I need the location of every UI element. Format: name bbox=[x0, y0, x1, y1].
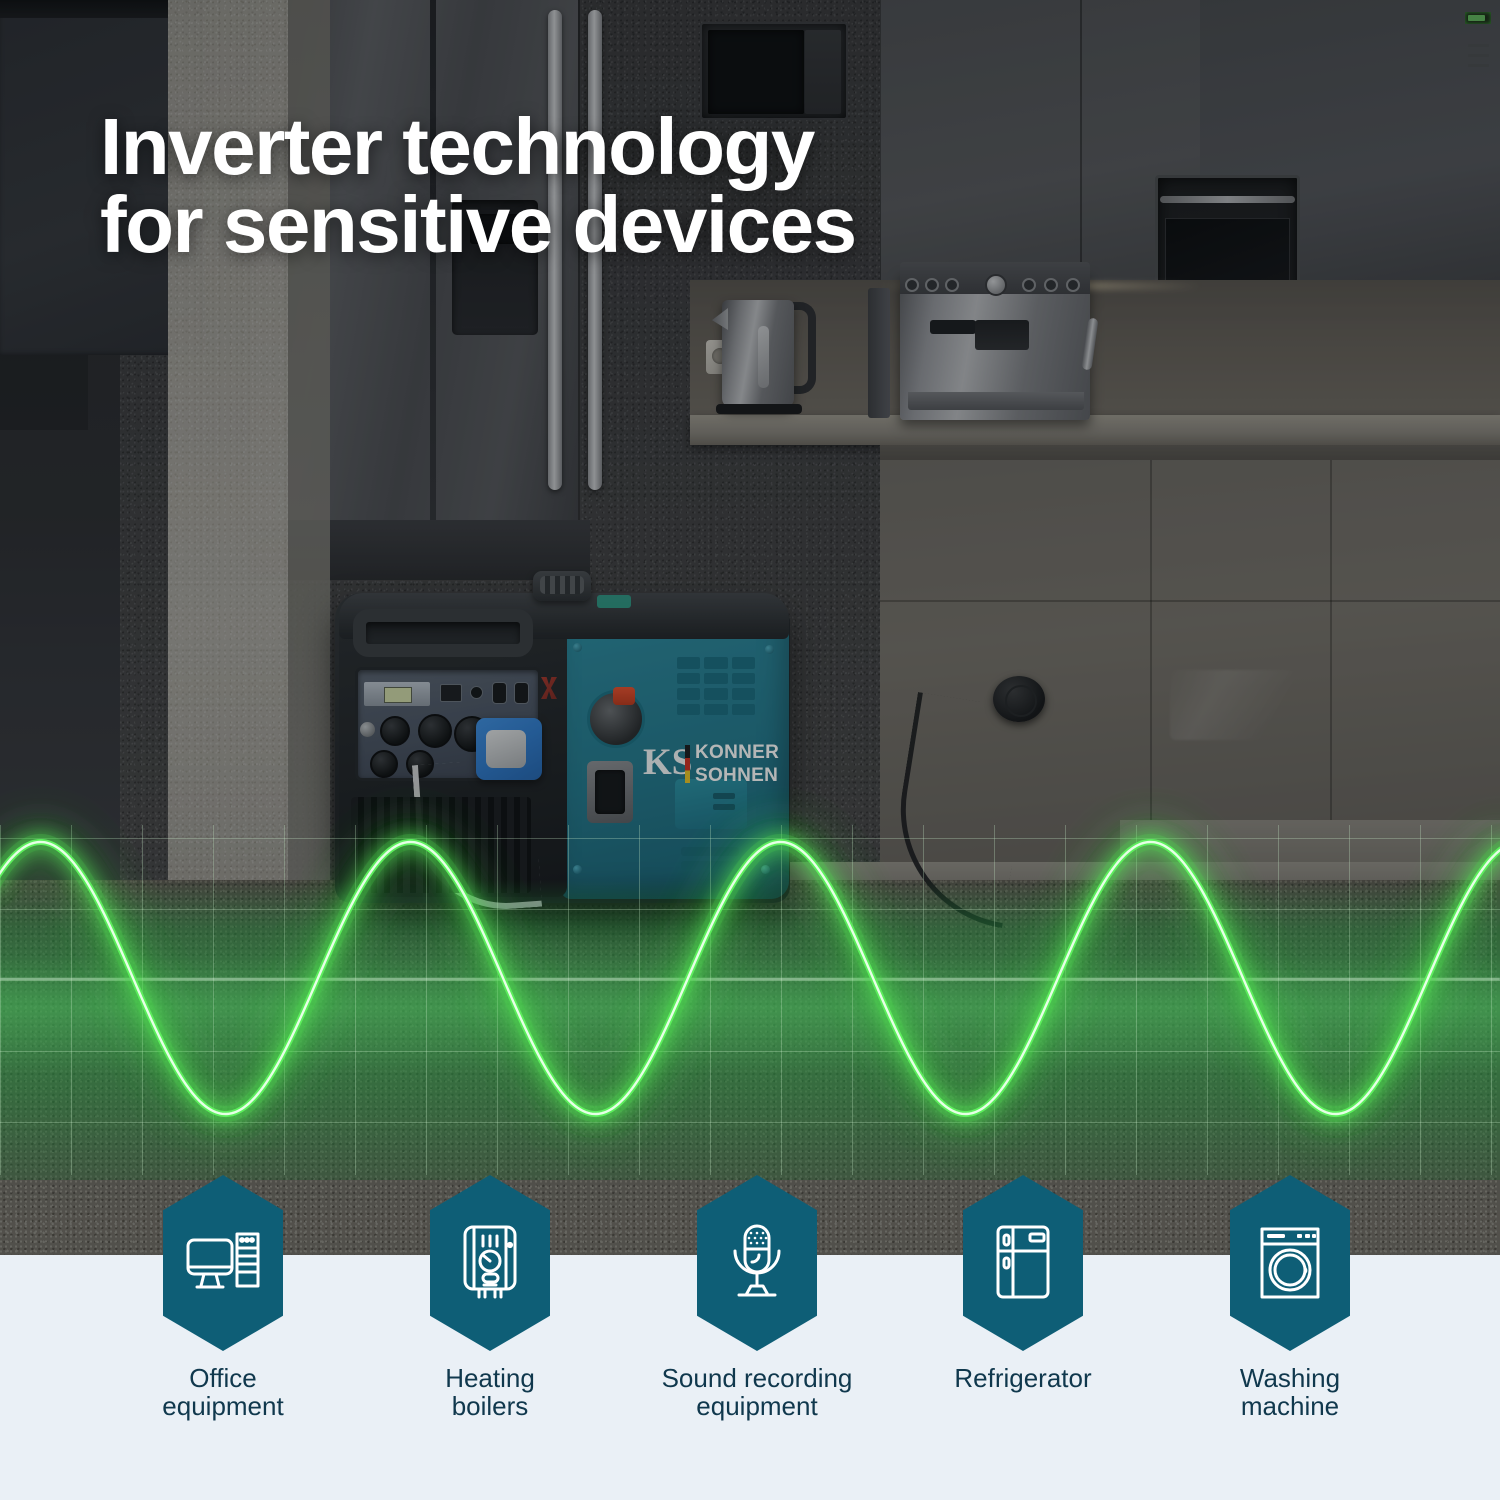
headline-line-1: Inverter technology bbox=[100, 108, 1100, 186]
infographic-banner: KS KONNER SOHNEN bbox=[0, 0, 1500, 1500]
feature-label-line-2: boilers bbox=[390, 1393, 590, 1421]
boiler-icon bbox=[430, 1175, 550, 1351]
feature-label: Sound recording equipment bbox=[657, 1365, 857, 1420]
feature-office-equipment[interactable]: Office equipment bbox=[123, 1175, 323, 1420]
feature-label-line-1: Sound recording bbox=[657, 1365, 857, 1393]
feature-label-line-1: Office bbox=[123, 1365, 323, 1393]
microphone-icon bbox=[697, 1175, 817, 1351]
feature-label: Refrigerator bbox=[923, 1365, 1123, 1393]
feature-label-line-1: Refrigerator bbox=[923, 1365, 1123, 1393]
feature-heating-boilers[interactable]: Heating boilers bbox=[390, 1175, 590, 1420]
feature-sound-recording[interactable]: Sound recording equipment bbox=[657, 1175, 857, 1420]
oscilloscope-center-line bbox=[0, 978, 1500, 980]
page-title: Inverter technology for sensitive device… bbox=[100, 108, 1100, 265]
hex-badge bbox=[163, 1175, 283, 1351]
feature-label-line-1: Heating bbox=[390, 1365, 590, 1393]
feature-refrigerator[interactable]: Refrigerator bbox=[923, 1175, 1123, 1393]
monitor-tower-icon bbox=[163, 1175, 283, 1351]
feature-label-line-1: Washing bbox=[1190, 1365, 1390, 1393]
feature-label-line-2: machine bbox=[1190, 1393, 1390, 1421]
feature-label-line-2: equipment bbox=[657, 1393, 857, 1421]
headline-line-2: for sensitive devices bbox=[100, 186, 1100, 264]
feature-washing-machine[interactable]: Washing machine bbox=[1190, 1175, 1390, 1420]
feature-label-line-2: equipment bbox=[123, 1393, 323, 1421]
hex-badge bbox=[430, 1175, 550, 1351]
feature-label: Washing machine bbox=[1190, 1365, 1390, 1420]
hex-badge bbox=[697, 1175, 817, 1351]
feature-label: Heating boilers bbox=[390, 1365, 590, 1420]
hex-badge bbox=[963, 1175, 1083, 1351]
refrigerator-icon bbox=[963, 1175, 1083, 1351]
feature-label: Office equipment bbox=[123, 1365, 323, 1420]
washing-machine-icon bbox=[1230, 1175, 1350, 1351]
hex-badge bbox=[1230, 1175, 1350, 1351]
